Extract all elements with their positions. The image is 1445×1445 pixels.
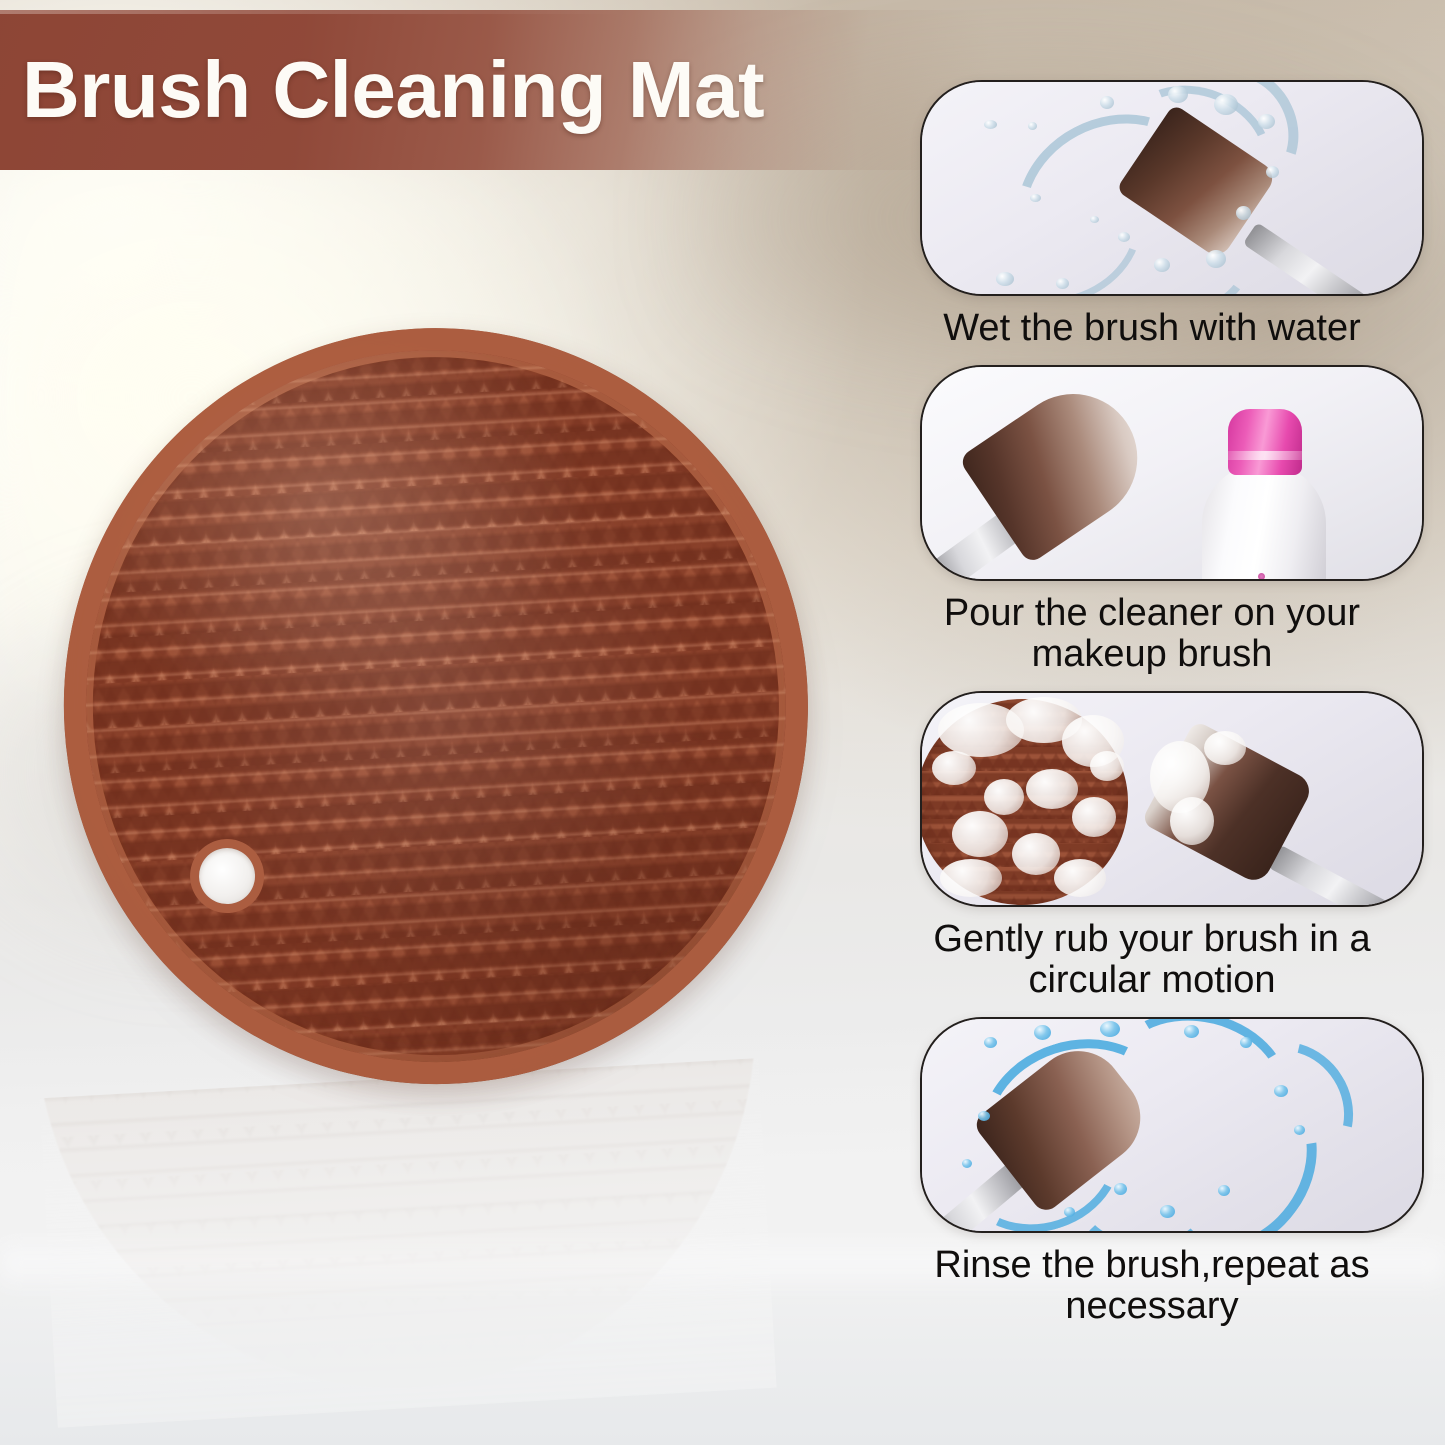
- steps-list: Wet the brush with water Pour the cleane…: [872, 80, 1432, 1335]
- bottle-dot-detail: [1258, 573, 1265, 579]
- step-2-caption: Pour the cleaner on your makeup brush: [872, 593, 1432, 675]
- foam-bubble-icon: [940, 859, 1002, 897]
- step-4-photo: [922, 1019, 1422, 1231]
- water-droplet-icon: [1100, 96, 1114, 109]
- water-droplet-icon: [1056, 278, 1069, 289]
- step-4-caption: Rinse the brush,repeat as necessary: [872, 1245, 1432, 1327]
- water-droplet-icon: [1154, 258, 1170, 272]
- water-droplet-icon: [1118, 232, 1130, 242]
- step-1-image-card: [920, 80, 1424, 296]
- product-mat: [37, 301, 839, 1114]
- water-droplet-icon: [1206, 250, 1226, 268]
- step-item: Pour the cleaner on your makeup brush: [872, 365, 1432, 675]
- water-droplet-icon: [996, 272, 1014, 286]
- foam-bubble-icon: [1026, 769, 1078, 809]
- bottle-cap-icon: [1228, 409, 1302, 475]
- foam-bubble-icon: [1170, 797, 1214, 845]
- step-1-photo: [922, 82, 1422, 294]
- step-item: Rinse the brush,repeat as necessary: [872, 1017, 1432, 1327]
- foam-bubble-icon: [984, 779, 1024, 815]
- product-mat-reflection: [39, 1058, 776, 1428]
- step-2-image-card: [920, 365, 1424, 581]
- step-4-image-card: [920, 1017, 1424, 1233]
- step-1-caption: Wet the brush with water: [872, 308, 1432, 349]
- product-mat-reflection-fade: [39, 1058, 776, 1428]
- foam-bubble-icon: [932, 751, 976, 785]
- step-2-photo: [922, 367, 1422, 579]
- water-droplet-icon: [1168, 86, 1188, 103]
- honeycomb-wall-highlights: [67, 331, 806, 1081]
- water-droplet-icon: [1030, 194, 1041, 202]
- page-title: Brush Cleaning Mat: [22, 50, 764, 130]
- title-banner: Brush Cleaning Mat: [0, 10, 1010, 170]
- water-droplet-icon: [1258, 114, 1275, 129]
- cleanser-bottle-icon: [1202, 463, 1326, 579]
- step-item: Gently rub your brush in a circular moti…: [872, 691, 1432, 1001]
- step-item: Wet the brush with water: [872, 80, 1432, 349]
- water-droplet-icon: [1236, 206, 1251, 220]
- foam-bubble-icon: [952, 811, 1008, 857]
- water-droplet-icon: [984, 120, 997, 129]
- step-3-photo: [922, 693, 1422, 905]
- bottle-cap-band: [1228, 451, 1302, 460]
- step-3-caption: Gently rub your brush in a circular moti…: [872, 919, 1432, 1001]
- water-droplet-icon: [1266, 166, 1279, 178]
- water-droplet-icon: [1214, 94, 1238, 115]
- foam-bubble-icon: [1054, 859, 1106, 897]
- foam-bubble-icon: [1072, 797, 1116, 837]
- foam-bubble-icon: [1204, 731, 1246, 765]
- product-mat-disc: [43, 308, 828, 1104]
- step-3-image-card: [920, 691, 1424, 907]
- water-droplet-icon: [1028, 122, 1037, 130]
- water-droplet-icon: [1090, 216, 1099, 223]
- foam-bubble-icon: [1012, 833, 1060, 875]
- product-infographic: Brush Cleaning Mat: [0, 0, 1445, 1445]
- foam-bubble-icon: [1090, 751, 1124, 781]
